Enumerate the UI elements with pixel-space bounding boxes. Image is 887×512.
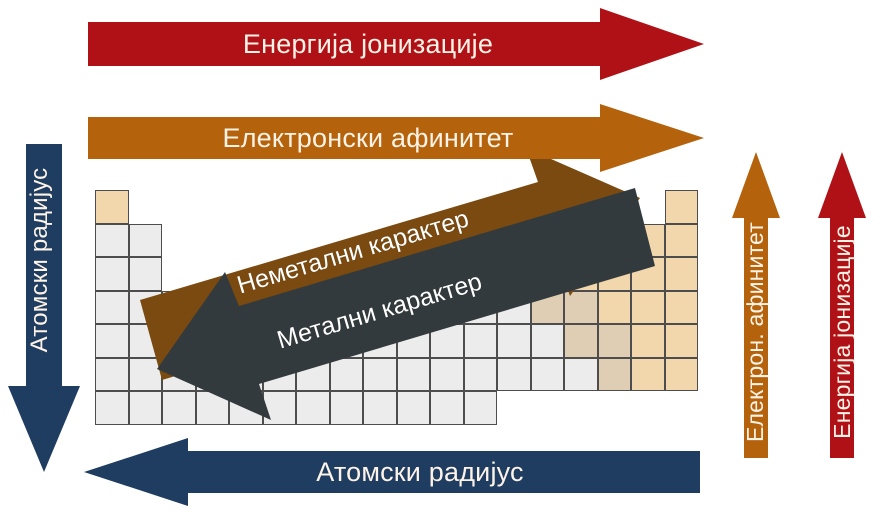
- periodic-table-cell: [665, 190, 699, 224]
- periodic-table-cell: [95, 257, 129, 291]
- periodic-table-cell: [95, 190, 129, 224]
- periodic-trends-diagram: Неметални карактер Метални карактер Енер…: [0, 0, 887, 512]
- vertical-arrow-atomic-radius: [8, 144, 80, 472]
- periodic-table-cell: [95, 291, 129, 325]
- periodic-table-cell: [665, 358, 699, 392]
- horizontal-arrow-ionization-energy: [88, 8, 704, 80]
- diagonal-arrow-metallic-character: [155, 228, 655, 408]
- periodic-table-cell: [665, 324, 699, 358]
- periodic-table-cell: [95, 358, 129, 392]
- vertical-arrow-electron-affinity: [732, 152, 780, 458]
- periodic-table-cell: [665, 291, 699, 325]
- periodic-table-cell: [95, 324, 129, 358]
- periodic-table-cell: [665, 224, 699, 258]
- periodic-table-cell: [95, 224, 129, 258]
- periodic-table-cell: [95, 391, 129, 425]
- horizontal-arrow-electron-affinity: [88, 104, 704, 172]
- vertical-arrow-ionization-energy: [818, 152, 866, 458]
- horizontal-arrow-atomic-radius: [84, 438, 700, 506]
- periodic-table-cell: [665, 257, 699, 291]
